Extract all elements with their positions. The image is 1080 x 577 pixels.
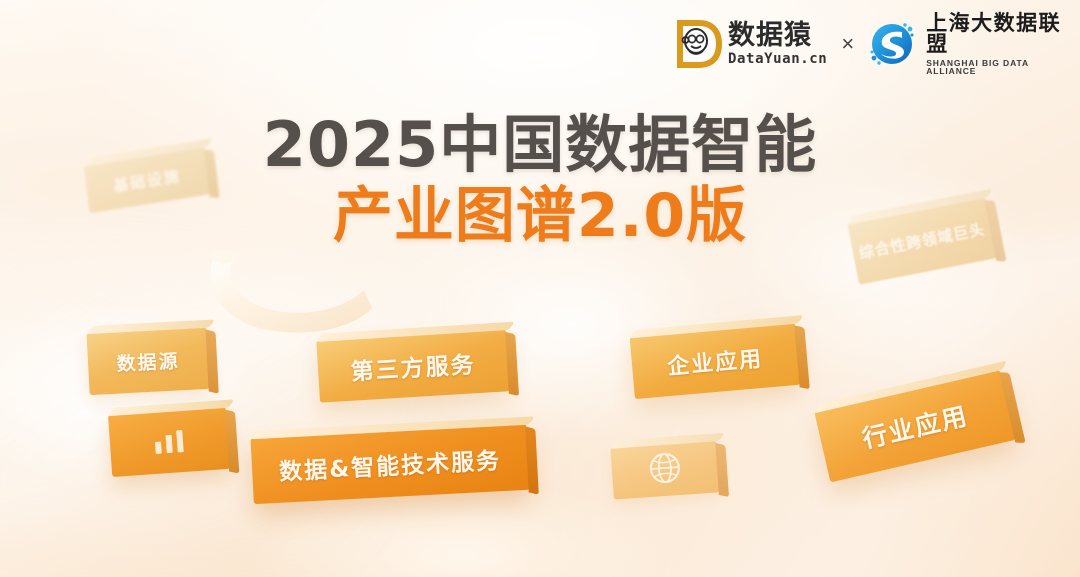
block-data-and-ai-tech-services[interactable]: 数据&智能技术服务 bbox=[250, 424, 529, 504]
header-logo-bar: 数据猿 DataYuan.cn × bbox=[676, 14, 1068, 74]
datayuan-cn-name: 数据猿 bbox=[728, 22, 827, 49]
block-label: 数据源 bbox=[116, 346, 180, 376]
block-label: 数据&智能技术服务 bbox=[278, 441, 502, 487]
block-globe[interactable] bbox=[610, 440, 719, 499]
block-label: 企业应用 bbox=[666, 341, 764, 381]
bar-chart-icon bbox=[154, 430, 183, 454]
alliance-cn-name: 上海大数据联盟 bbox=[926, 13, 1068, 55]
title-line-2: 产业图谱2.0版 bbox=[0, 183, 1080, 250]
poster-title: 2025中国数据智能 产业图谱2.0版 bbox=[0, 112, 1080, 250]
shanghai-big-data-alliance-logo: 上海大数据联盟 SHANGHAI BIG DATA ALLIANCE bbox=[866, 13, 1068, 76]
block-data-source[interactable]: 数据源 bbox=[86, 327, 209, 395]
block-industry-applications[interactable]: 行业应用 bbox=[814, 370, 1015, 483]
block-third-party-services[interactable]: 第三方服务 bbox=[316, 329, 509, 402]
datayuan-logo: 数据猿 DataYuan.cn bbox=[676, 20, 827, 68]
logo-separator-x: × bbox=[841, 31, 854, 57]
decorative-ribbon bbox=[196, 238, 386, 346]
title-line-1: 2025中国数据智能 bbox=[0, 112, 1080, 179]
block-bar-chart[interactable] bbox=[108, 407, 230, 477]
globe-icon bbox=[647, 450, 684, 490]
shanghai-big-data-alliance-logo-icon bbox=[866, 18, 918, 70]
datayuan-d-monkey-logo-icon bbox=[676, 20, 722, 68]
block-label: 第三方服务 bbox=[350, 345, 477, 387]
block-enterprise-applications[interactable]: 企业应用 bbox=[630, 323, 801, 399]
alliance-en-name: SHANGHAI BIG DATA ALLIANCE bbox=[926, 59, 1068, 76]
poster-canvas: 数据猿 DataYuan.cn × bbox=[0, 0, 1080, 577]
block-label: 行业应用 bbox=[858, 396, 971, 455]
datayuan-en-name: DataYuan.cn bbox=[728, 52, 827, 66]
